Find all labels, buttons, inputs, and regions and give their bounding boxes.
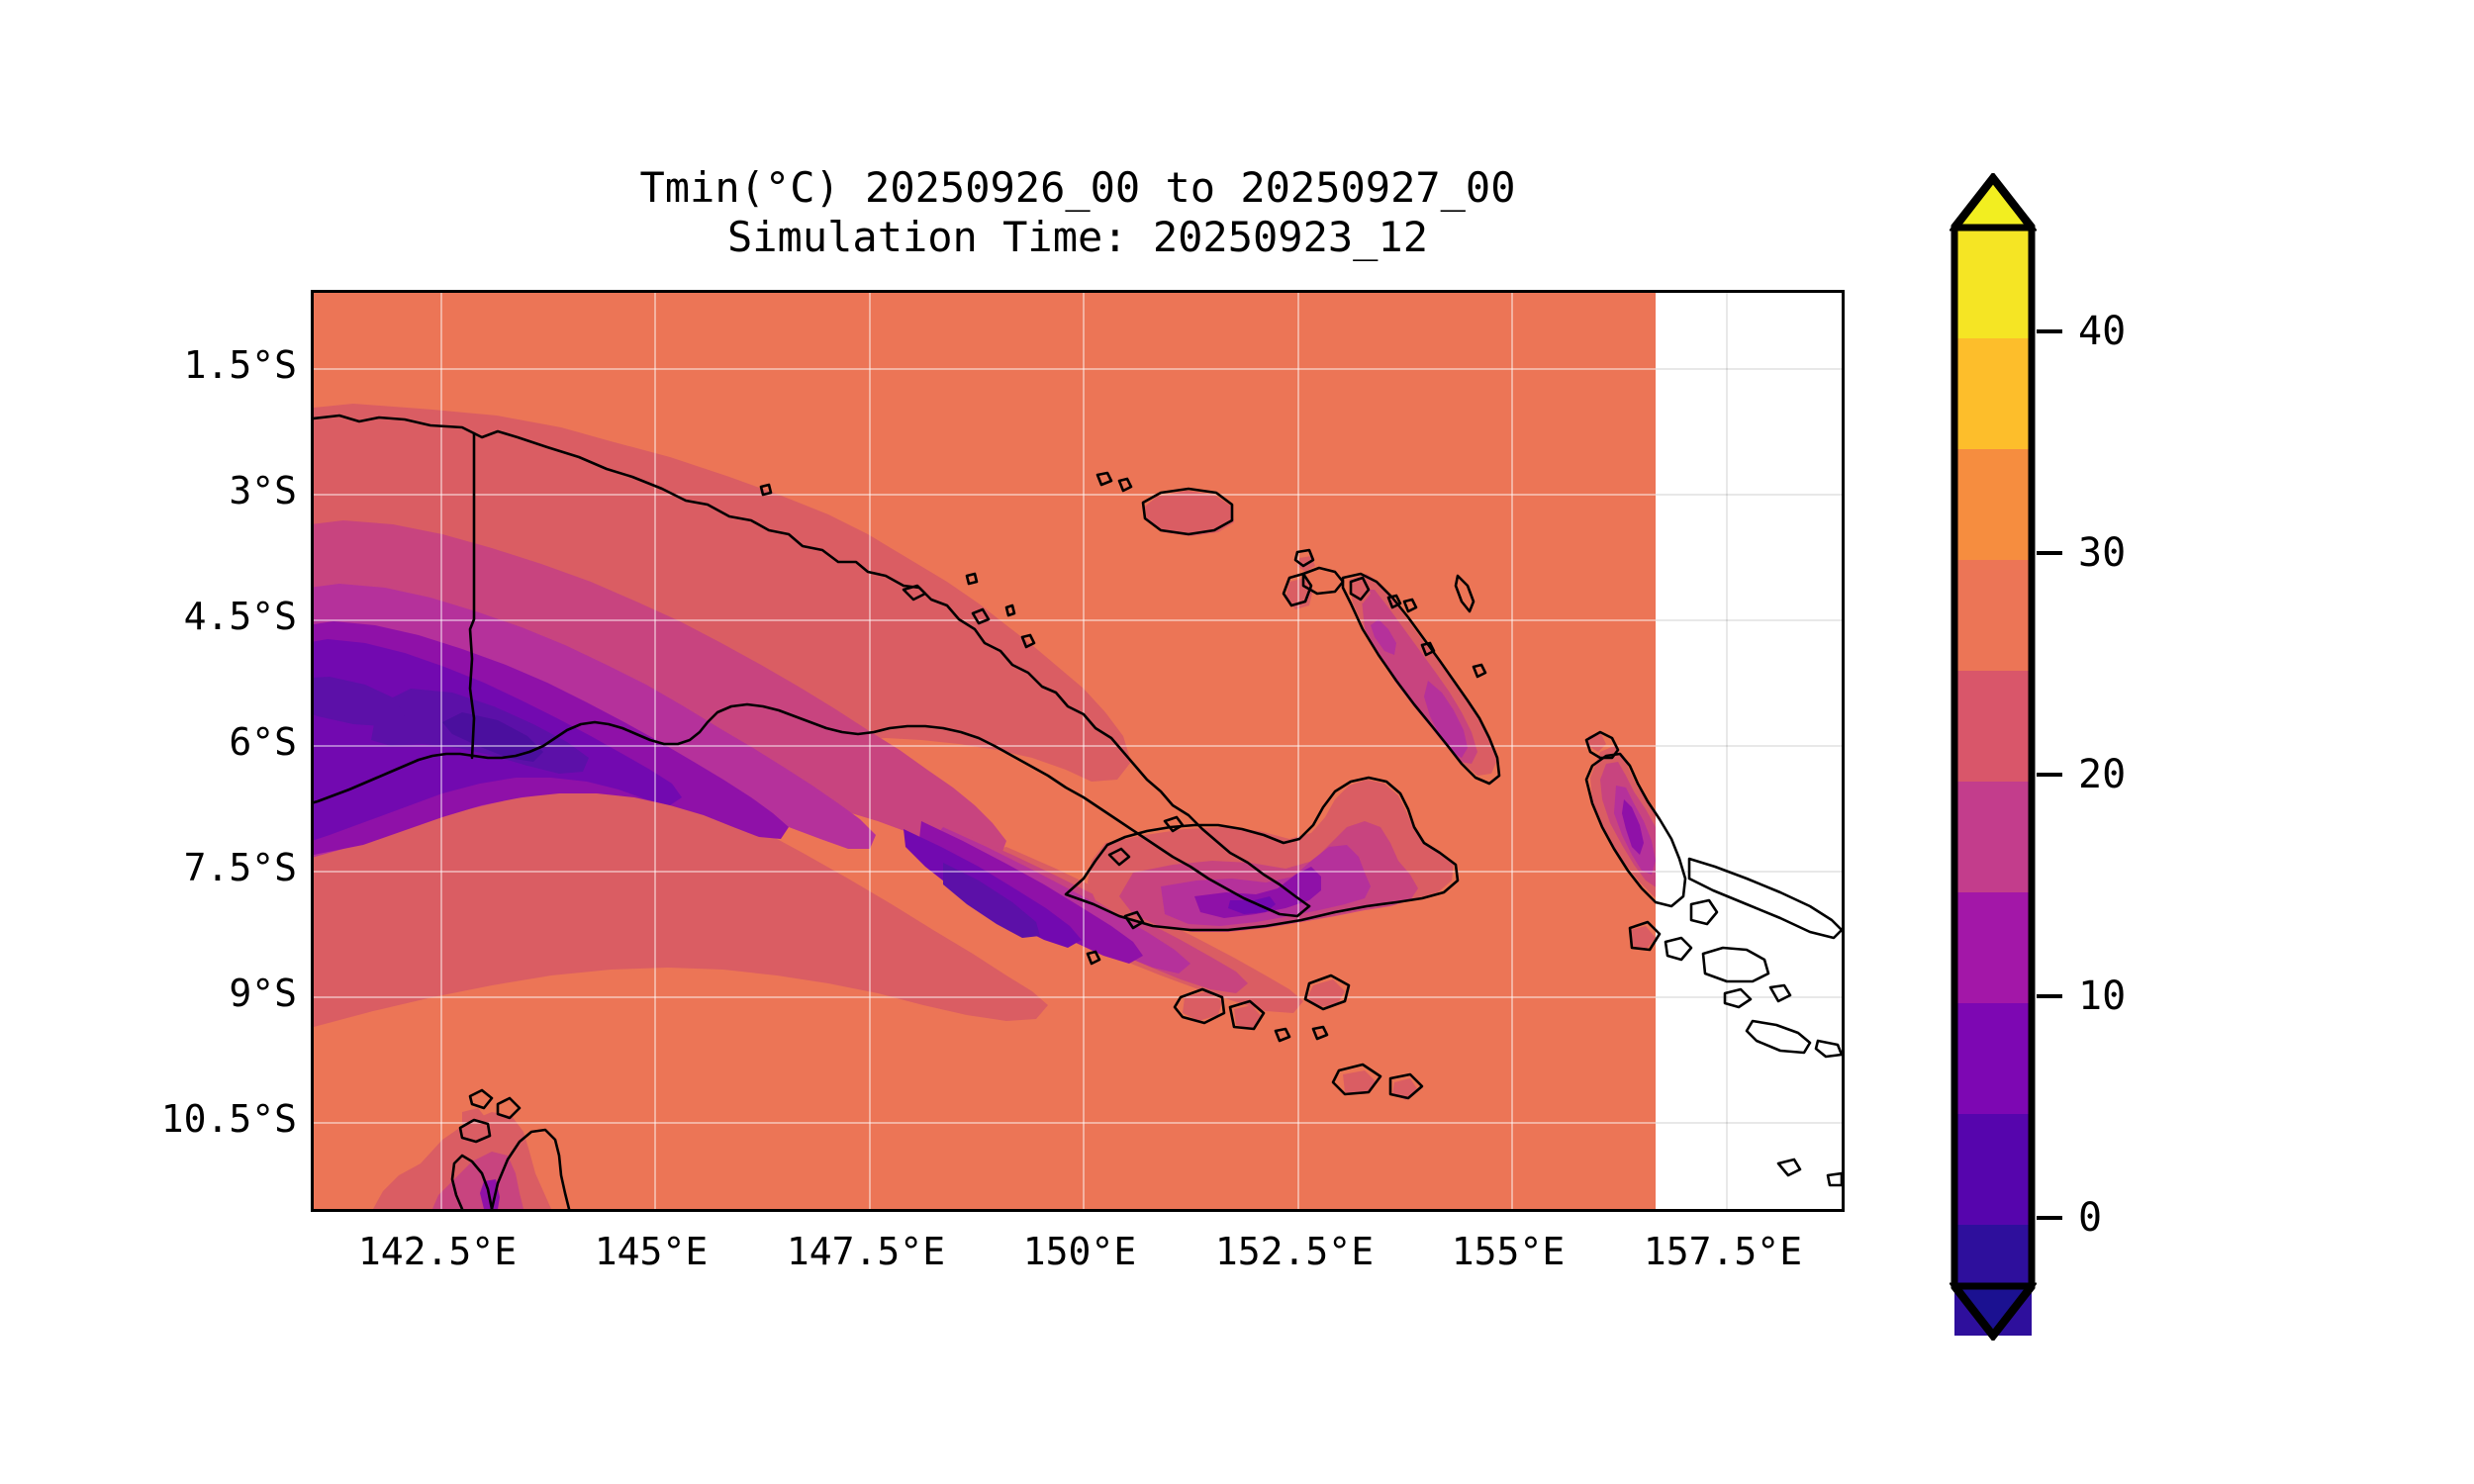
colorbar-band: [1954, 449, 2032, 560]
x-tick-label: 152.5°E: [1215, 1230, 1374, 1273]
colorbar-band: [1954, 671, 2032, 782]
y-tick-label: 6°S: [229, 720, 297, 764]
map-clip: [314, 293, 1842, 1209]
colorbar-tick: [2037, 329, 2062, 333]
y-tick-label: 9°S: [229, 972, 297, 1015]
x-axis-labels: 142.5°E 145°E 147.5°E 150°E 152.5°E 155°…: [311, 1230, 1845, 1289]
colorbar-band: [1954, 1114, 2032, 1225]
colorbar-band: [1954, 228, 2032, 338]
x-tick-label: 150°E: [1023, 1230, 1136, 1273]
colorbar-band: [1954, 1003, 2032, 1114]
x-tick-label: 147.5°E: [787, 1230, 945, 1273]
coastline-overlay: [314, 293, 1842, 1209]
colorbar-band: [1954, 338, 2032, 449]
colorbar-tick: [2037, 551, 2062, 555]
y-tick-label: 3°S: [229, 469, 297, 512]
colorbar-band: [1954, 560, 2032, 671]
colorbar-tick-label: 0: [2078, 1195, 2102, 1241]
colorbar-tick: [2037, 773, 2062, 777]
y-tick-label: 1.5°S: [184, 343, 297, 387]
x-tick-label: 155°E: [1452, 1230, 1565, 1273]
colorbar-tick-label: 30: [2078, 530, 2126, 576]
colorbar-tick-label: 40: [2078, 309, 2126, 354]
y-tick-label: 4.5°S: [184, 595, 297, 638]
title-line-2: Simulation Time: 20250923_12: [311, 213, 1845, 262]
y-axis-labels: 1.5°S 3°S 4.5°S 6°S 7.5°S 9°S 10.5°S: [0, 290, 297, 1212]
colorbar-band: [1954, 1225, 2032, 1336]
y-tick-label: 7.5°S: [184, 846, 297, 889]
colorbar[interactable]: 40 30 20 10 0: [1942, 173, 2397, 1345]
x-tick-label: 142.5°E: [358, 1230, 517, 1273]
colorbar-tick: [2037, 1216, 2062, 1220]
colorbar-band: [1954, 892, 2032, 1003]
y-tick-label: 10.5°S: [161, 1097, 297, 1141]
colorbar-tick-label: 20: [2078, 752, 2126, 797]
colorbar-band: [1954, 782, 2032, 892]
x-tick-label: 157.5°E: [1644, 1230, 1802, 1273]
colorbar-gradient: [1954, 228, 2032, 1336]
figure-title: Tmin(°C) 20250926_00 to 20250927_00 Simu…: [311, 163, 1845, 261]
x-tick-label: 145°E: [595, 1230, 708, 1273]
colorbar-tick-label: 10: [2078, 974, 2126, 1019]
colorbar-tick: [2037, 994, 2062, 998]
map-plot-area[interactable]: [311, 290, 1845, 1212]
title-line-1: Tmin(°C) 20250926_00 to 20250927_00: [311, 163, 1845, 213]
